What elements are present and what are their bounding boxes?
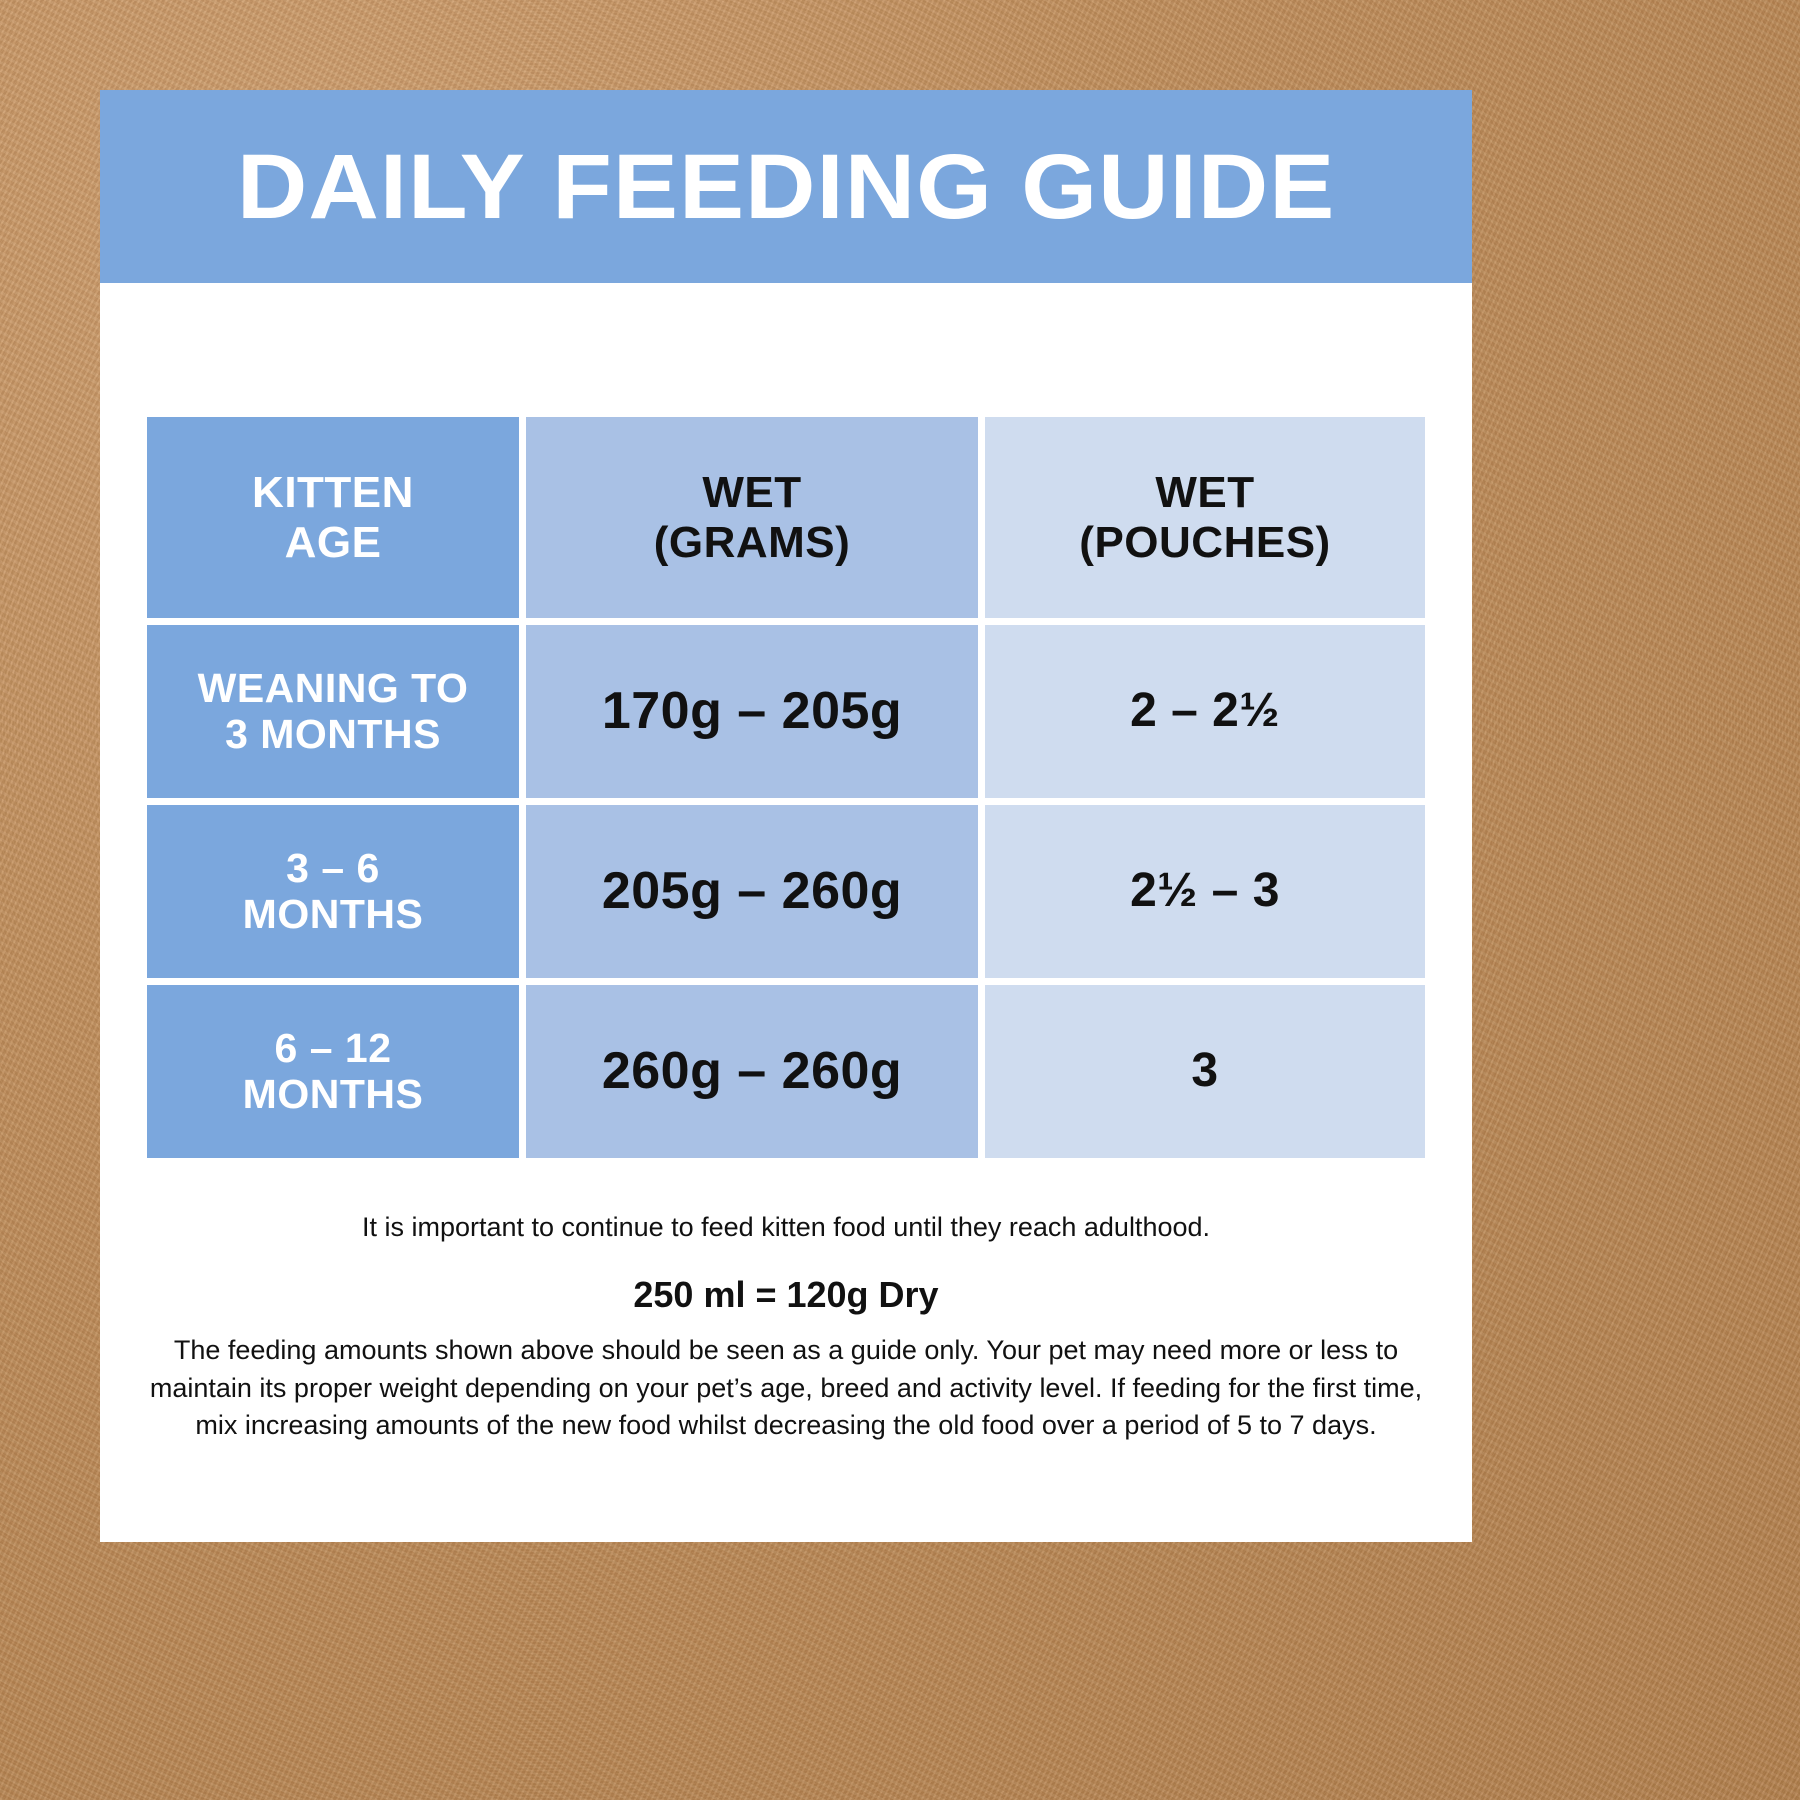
cell-wet-grams-value: 170g – 205g <box>602 683 902 740</box>
cell-wet-grams: 205g – 260g <box>526 805 978 978</box>
table-row: 6 – 12 MONTHS 260g – 260g 3 <box>147 985 1425 1158</box>
cell-age-line2: MONTHS <box>243 891 424 937</box>
cell-age: 6 – 12 MONTHS <box>147 985 519 1158</box>
footer-conversion: 250 ml = 120g Dry <box>144 1273 1428 1316</box>
cell-wet-pouches: 3 <box>985 985 1425 1158</box>
feeding-guide-card: DAILY FEEDING GUIDE KITTEN AGE WET (GRAM… <box>100 90 1472 1542</box>
column-header-wet-pouches: WET (POUCHES) <box>985 417 1425 618</box>
column-header-wet-grams-line1: WET <box>702 468 801 517</box>
table-header-row: KITTEN AGE WET (GRAMS) WET (POUCHES) <box>147 417 1425 618</box>
cell-age-line1: 3 – 6 <box>286 845 380 891</box>
footer: It is important to continue to feed kitt… <box>144 1210 1428 1444</box>
feeding-table: KITTEN AGE WET (GRAMS) WET (POUCHES) <box>147 417 1425 1158</box>
cell-age: 3 – 6 MONTHS <box>147 805 519 978</box>
cell-age-line1: 6 – 12 <box>275 1025 392 1071</box>
page-title: DAILY FEEDING GUIDE <box>237 141 1335 233</box>
footer-disclaimer: The feeding amounts shown above should b… <box>144 1332 1428 1444</box>
table-row: WEANING TO 3 MONTHS 170g – 205g 2 – 2½ <box>147 625 1425 798</box>
column-header-wet-pouches-line2: (POUCHES) <box>1079 518 1330 567</box>
column-header-wet-pouches-line1: WET <box>1155 468 1254 517</box>
cell-wet-grams: 260g – 260g <box>526 985 978 1158</box>
cell-wet-pouches: 2½ – 3 <box>985 805 1425 978</box>
column-header-kitten-age-line2: AGE <box>285 518 382 567</box>
cell-age-line2: 3 MONTHS <box>225 711 441 757</box>
cell-wet-grams-value: 205g – 260g <box>602 863 902 920</box>
column-header-kitten-age-line1: KITTEN <box>252 468 414 517</box>
column-header-kitten-age: KITTEN AGE <box>147 417 519 618</box>
title-band: DAILY FEEDING GUIDE <box>100 90 1472 283</box>
column-header-wet-grams-line2: (GRAMS) <box>654 518 851 567</box>
cell-age-line1: WEANING TO <box>198 665 469 711</box>
cell-wet-grams-value: 260g – 260g <box>602 1043 902 1100</box>
cell-age: WEANING TO 3 MONTHS <box>147 625 519 798</box>
cell-wet-grams: 170g – 205g <box>526 625 978 798</box>
table-row: 3 – 6 MONTHS 205g – 260g 2½ – 3 <box>147 805 1425 978</box>
column-header-wet-grams: WET (GRAMS) <box>526 417 978 618</box>
footer-note: It is important to continue to feed kitt… <box>144 1210 1428 1245</box>
cell-wet-pouches-value: 2½ – 3 <box>1130 865 1280 918</box>
cell-wet-pouches-value: 3 <box>1191 1045 1218 1098</box>
cell-wet-pouches: 2 – 2½ <box>985 625 1425 798</box>
cell-wet-pouches-value: 2 – 2½ <box>1130 685 1280 738</box>
cell-age-line2: MONTHS <box>243 1071 424 1117</box>
